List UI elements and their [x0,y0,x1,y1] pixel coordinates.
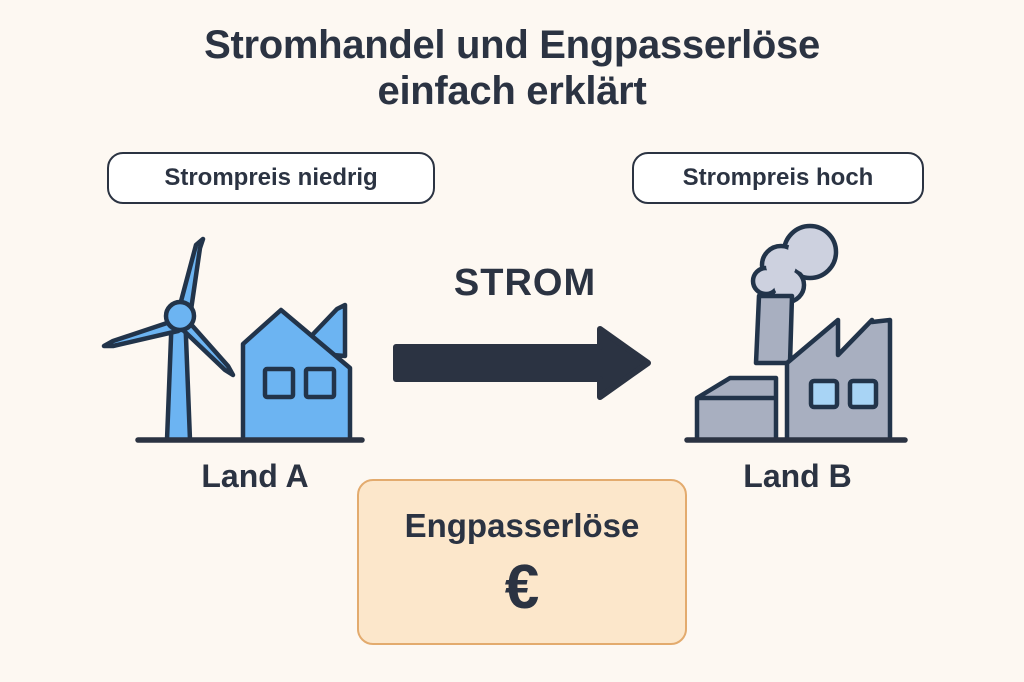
factory-icon [697,296,890,440]
smoke-cloud-icon [753,226,836,302]
house-window-right [306,369,334,397]
turbine-hub [166,302,194,330]
wind-turbine-icon [104,239,233,440]
title-line-1: Stromhandel und Engpasserlöse [204,23,820,67]
title-line-2: einfach erklärt [0,68,1024,114]
page-title: Stromhandel und Engpasserlöse einfach er… [0,22,1024,114]
country-label-land-a: Land A [150,458,360,495]
house-window-left [265,369,293,397]
factory-chimney [756,296,792,363]
arrow-shape [396,329,648,397]
factory-window-right [850,381,876,407]
house-icon [243,305,350,440]
turbine-blade-right [183,322,233,375]
congestion-revenue-title: Engpasserlöse [405,507,640,545]
factory-window-left [811,381,837,407]
congestion-revenue-box: Engpasserlöse € [357,479,687,645]
euro-sign-icon: € [505,557,539,619]
badge-price-high: Strompreis hoch [632,152,924,204]
factory-annex [697,378,776,440]
badge-price-low: Strompreis niedrig [107,152,435,204]
smoke-fill-4 [757,272,775,290]
turbine-blade-up [180,239,203,310]
arrow-right-icon [396,329,648,397]
country-label-land-b: Land B [690,458,905,495]
flow-label-strom: STROM [380,262,670,305]
infographic-canvas: Stromhandel und Engpasserlöse einfach er… [0,0,1024,682]
